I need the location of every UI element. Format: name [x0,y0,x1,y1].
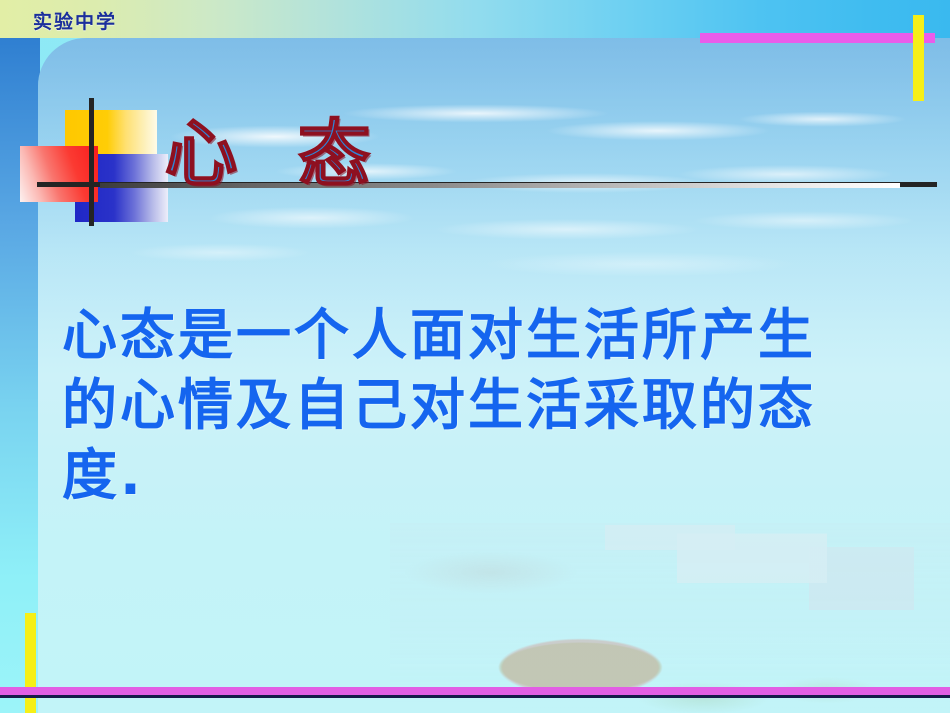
body-line-2: 的心情及自己对生活采取的态 [62,370,922,440]
body-line-3: 度. [62,440,922,510]
magenta-bar-top-right [700,33,935,43]
presentation-slide: 实验中学 心 态 心态是一个人面对生活所产生 的心情及自己对生活采取的态 度. [0,0,950,713]
navy-line-bottom [0,695,950,698]
magenta-bar-bottom [0,687,950,695]
yellow-bar-top-right [913,15,924,101]
slide-title: 心 态 [165,95,388,200]
slide-body-text: 心态是一个人面对生活所产生 的心情及自己对生活采取的态 度. [62,300,922,510]
school-name-label: 实验中学 [33,7,117,34]
red-square-decoration [20,146,98,202]
yellow-bar-bottom-left [25,613,36,713]
campus-aerial-photo [390,523,950,713]
vertical-rule-decoration [89,98,94,226]
body-line-1: 心态是一个人面对生活所产生 [62,300,922,370]
